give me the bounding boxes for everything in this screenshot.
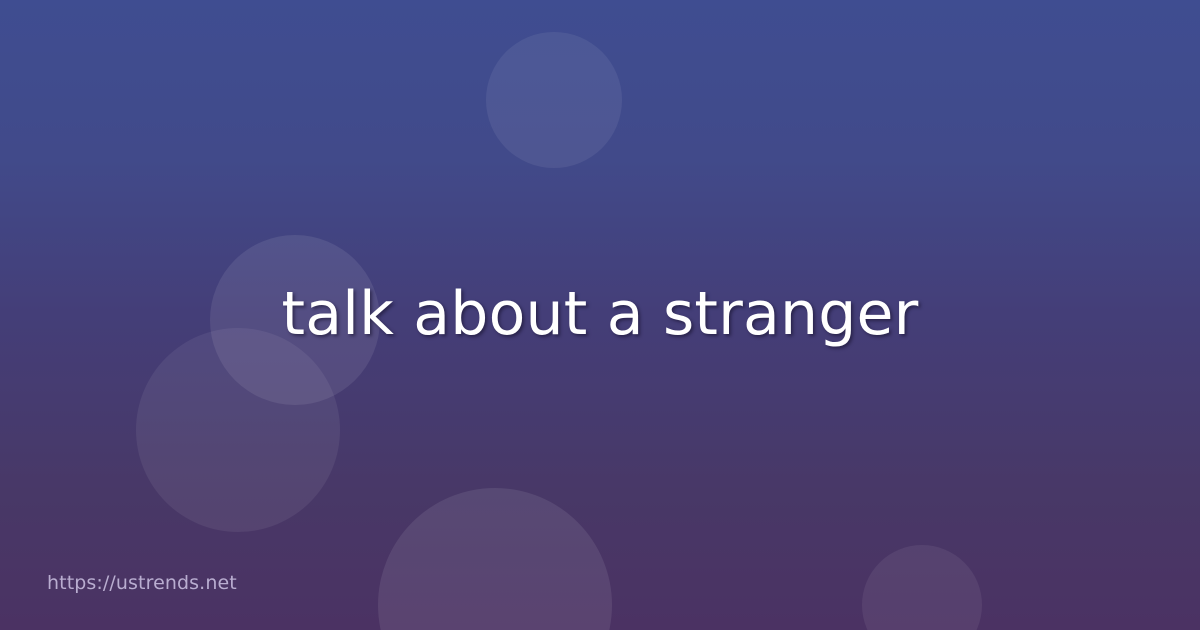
page-title: talk about a stranger	[282, 281, 919, 348]
title-container: talk about a stranger	[0, 0, 1200, 630]
site-url-label: https://ustrends.net	[47, 571, 237, 595]
social-share-card: talk about a stranger https://ustrends.n…	[0, 0, 1200, 630]
